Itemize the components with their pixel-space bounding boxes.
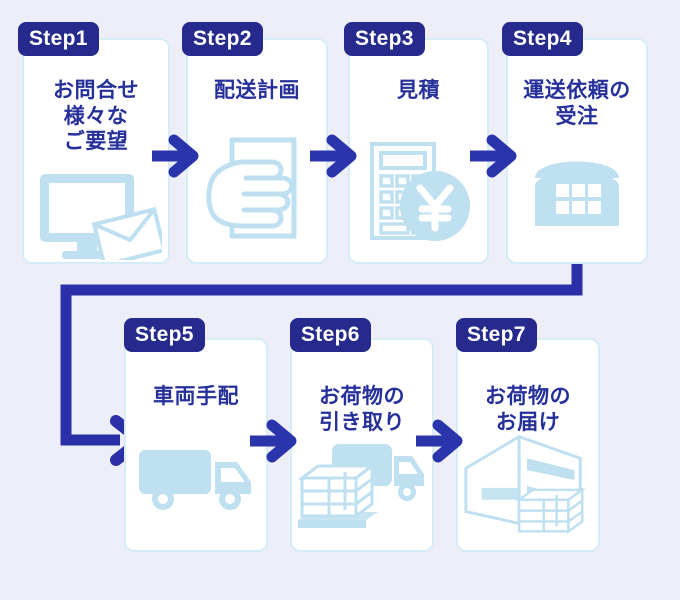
arrow-step1-to-step2: [152, 133, 200, 179]
step-badge-7: Step7: [456, 318, 537, 352]
arrow-step2-to-step3: [310, 133, 358, 179]
arrow-step3-to-step4: [470, 133, 518, 179]
step-label-2: 配送計画: [188, 78, 326, 104]
step-card-2[interactable]: 配送計画: [186, 38, 328, 264]
step-label-1: お問合せ 様々な ご要望: [24, 78, 168, 155]
step-label-5: 車両手配: [126, 384, 266, 410]
truck-icon: [126, 438, 266, 518]
step-badge-5: Step5: [124, 318, 205, 352]
step-badge-3: Step3: [344, 22, 425, 56]
step-badge-6: Step6: [290, 318, 371, 352]
step-badge-4: Step4: [502, 22, 583, 56]
arrow-step5-to-step6: [250, 418, 298, 464]
step-card-6[interactable]: お荷物の 引き取り: [290, 338, 434, 552]
hand-document-icon: [188, 132, 326, 248]
calculator-yen-icon: [350, 138, 487, 250]
step-card-3[interactable]: 見積: [348, 38, 489, 264]
monitor-envelope-icon: [24, 168, 168, 260]
step-card-1[interactable]: お問合せ 様々な ご要望: [22, 38, 170, 264]
warehouse-boxes-icon: [458, 428, 598, 538]
step-card-4[interactable]: 運送依頼の 受注: [506, 38, 648, 264]
step-label-6: お荷物の 引き取り: [292, 384, 432, 435]
boxes-truck-icon: [292, 436, 432, 536]
step-badge-1: Step1: [18, 22, 99, 56]
step-label-4: 運送依頼の 受注: [508, 78, 646, 129]
arrow-step6-to-step7: [416, 418, 464, 464]
process-flow-diagram: お問合せ 様々な ご要望 Step1 配送計画: [0, 0, 680, 600]
office-building-icon: [508, 148, 646, 230]
step-card-7[interactable]: お荷物の お届け: [456, 338, 600, 552]
step-label-3: 見積: [350, 78, 487, 104]
step-badge-2: Step2: [182, 22, 263, 56]
step-card-5[interactable]: 車両手配: [124, 338, 268, 552]
